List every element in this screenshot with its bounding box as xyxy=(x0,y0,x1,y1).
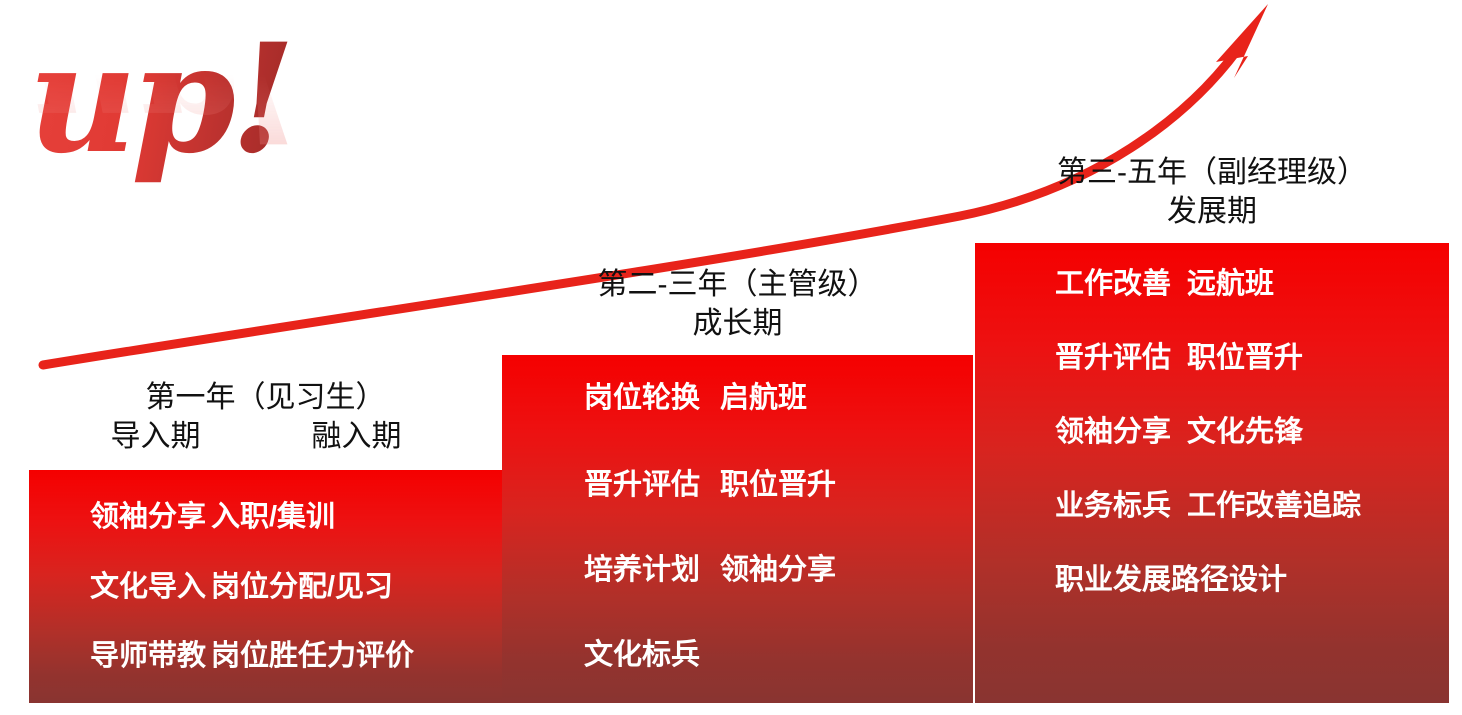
stage-3-row-2: 晋升评估 职位晋升 xyxy=(975,341,1449,375)
stage-1-box: 领袖分享 入职/集训 文化导入 岗位分配/见习 导师带教 岗位胜任力评价 xyxy=(29,470,502,703)
stage-2-header: 第二-三年（主管级） 成长期 xyxy=(502,265,973,343)
stage-3-box: 工作改善 远航班 晋升评估 职位晋升 领袖分享 文化先锋 业务标兵 工作改善追踪… xyxy=(975,243,1449,703)
stage-2-item-2-1: 晋升评估 xyxy=(502,468,720,502)
stage-1-item-3-2: 岗位胜任力评价 xyxy=(211,639,414,673)
stage-1-row-3: 导师带教 岗位胜任力评价 xyxy=(29,639,502,673)
stage-2-sublabel-1: 成长期 xyxy=(693,304,783,343)
stage-3-title: 第三-五年（副经理级） xyxy=(975,153,1449,192)
stage-1-sublabel-1: 导入期 xyxy=(65,417,247,456)
stage-3-item-1-1: 工作改善 xyxy=(975,267,1187,301)
stage-1-item-1-1: 领袖分享 xyxy=(29,500,211,534)
stage-2-item-1-2: 启航班 xyxy=(720,381,807,415)
stage-2-row-3: 培养计划 领袖分享 xyxy=(502,553,973,587)
stage-column-1: 第一年（见习生） 导入期 融入期 领袖分享 入职/集训 文化导入 岗位分配/见习… xyxy=(29,0,502,715)
stage-1-row-2: 文化导入 岗位分配/见习 xyxy=(29,570,502,604)
stage-2-item-3-2: 领袖分享 xyxy=(720,553,836,587)
stage-3-rows: 工作改善 远航班 晋升评估 职位晋升 领袖分享 文化先锋 业务标兵 工作改善追踪… xyxy=(975,243,1449,703)
stage-1-item-1-2: 入职/集训 xyxy=(211,500,335,534)
stage-2-rows: 岗位轮换 启航班 晋升评估 职位晋升 培养计划 领袖分享 文化标兵 xyxy=(502,355,973,703)
stage-3-item-4-1: 业务标兵 xyxy=(975,489,1187,523)
stage-2-box: 岗位轮换 启航班 晋升评估 职位晋升 培养计划 领袖分享 文化标兵 xyxy=(502,355,973,703)
stage-3-item-5-1: 职业发展路径设计 xyxy=(975,563,1287,597)
stage-1-sublabels: 导入期 融入期 xyxy=(29,417,502,456)
stage-2-row-1: 岗位轮换 启航班 xyxy=(502,381,973,415)
stage-2-item-1-1: 岗位轮换 xyxy=(502,381,720,415)
stage-3-item-1-2: 远航班 xyxy=(1187,267,1274,301)
stage-1-item-2-2: 岗位分配/见习 xyxy=(211,570,393,604)
stage-1-header: 第一年（见习生） 导入期 融入期 xyxy=(29,378,502,456)
stage-3-row-3: 领袖分享 文化先锋 xyxy=(975,415,1449,449)
stage-1-title: 第一年（见习生） xyxy=(29,378,502,417)
stage-3-sublabel-1: 发展期 xyxy=(1167,192,1257,231)
stage-1-rows: 领袖分享 入职/集训 文化导入 岗位分配/见习 导师带教 岗位胜任力评价 xyxy=(29,470,502,703)
stage-2-item-4-1: 文化标兵 xyxy=(502,638,720,672)
stage-3-item-2-1: 晋升评估 xyxy=(975,341,1187,375)
stage-column-3: 第三-五年（副经理级） 发展期 工作改善 远航班 晋升评估 职位晋升 领袖分享 … xyxy=(975,0,1449,715)
stage-3-item-2-2: 职位晋升 xyxy=(1187,341,1303,375)
stage-3-row-4: 业务标兵 工作改善追踪 xyxy=(975,489,1449,523)
stage-2-item-3-1: 培养计划 xyxy=(502,553,720,587)
stage-3-row-5: 职业发展路径设计 xyxy=(975,563,1449,597)
stage-3-header: 第三-五年（副经理级） 发展期 xyxy=(975,153,1449,231)
stage-1-item-3-1: 导师带教 xyxy=(29,639,211,673)
stage-1-sublabel-2: 融入期 xyxy=(247,417,467,456)
stage-3-row-1: 工作改善 远航班 xyxy=(975,267,1449,301)
stage-2-item-2-2: 职位晋升 xyxy=(720,468,836,502)
stage-3-item-4-2: 工作改善追踪 xyxy=(1187,489,1361,523)
stage-3-sublabels: 发展期 xyxy=(975,192,1449,231)
stage-column-2: 第二-三年（主管级） 成长期 岗位轮换 启航班 晋升评估 职位晋升 培养计划 领… xyxy=(502,0,973,715)
stage-2-row-2: 晋升评估 职位晋升 xyxy=(502,468,973,502)
stage-2-sublabels: 成长期 xyxy=(502,304,973,343)
stage-3-item-3-2: 文化先锋 xyxy=(1187,415,1303,449)
stage-1-row-1: 领袖分享 入职/集训 xyxy=(29,500,502,534)
career-roadmap-diagram: up! up! 第一年（见习生） 导入期 融入期 领袖分享 入职/集训 文化导入 xyxy=(0,0,1462,715)
stage-2-row-4: 文化标兵 xyxy=(502,638,973,672)
stage-2-title: 第二-三年（主管级） xyxy=(502,265,973,304)
stage-3-item-3-1: 领袖分享 xyxy=(975,415,1187,449)
stage-1-item-2-1: 文化导入 xyxy=(29,570,211,604)
